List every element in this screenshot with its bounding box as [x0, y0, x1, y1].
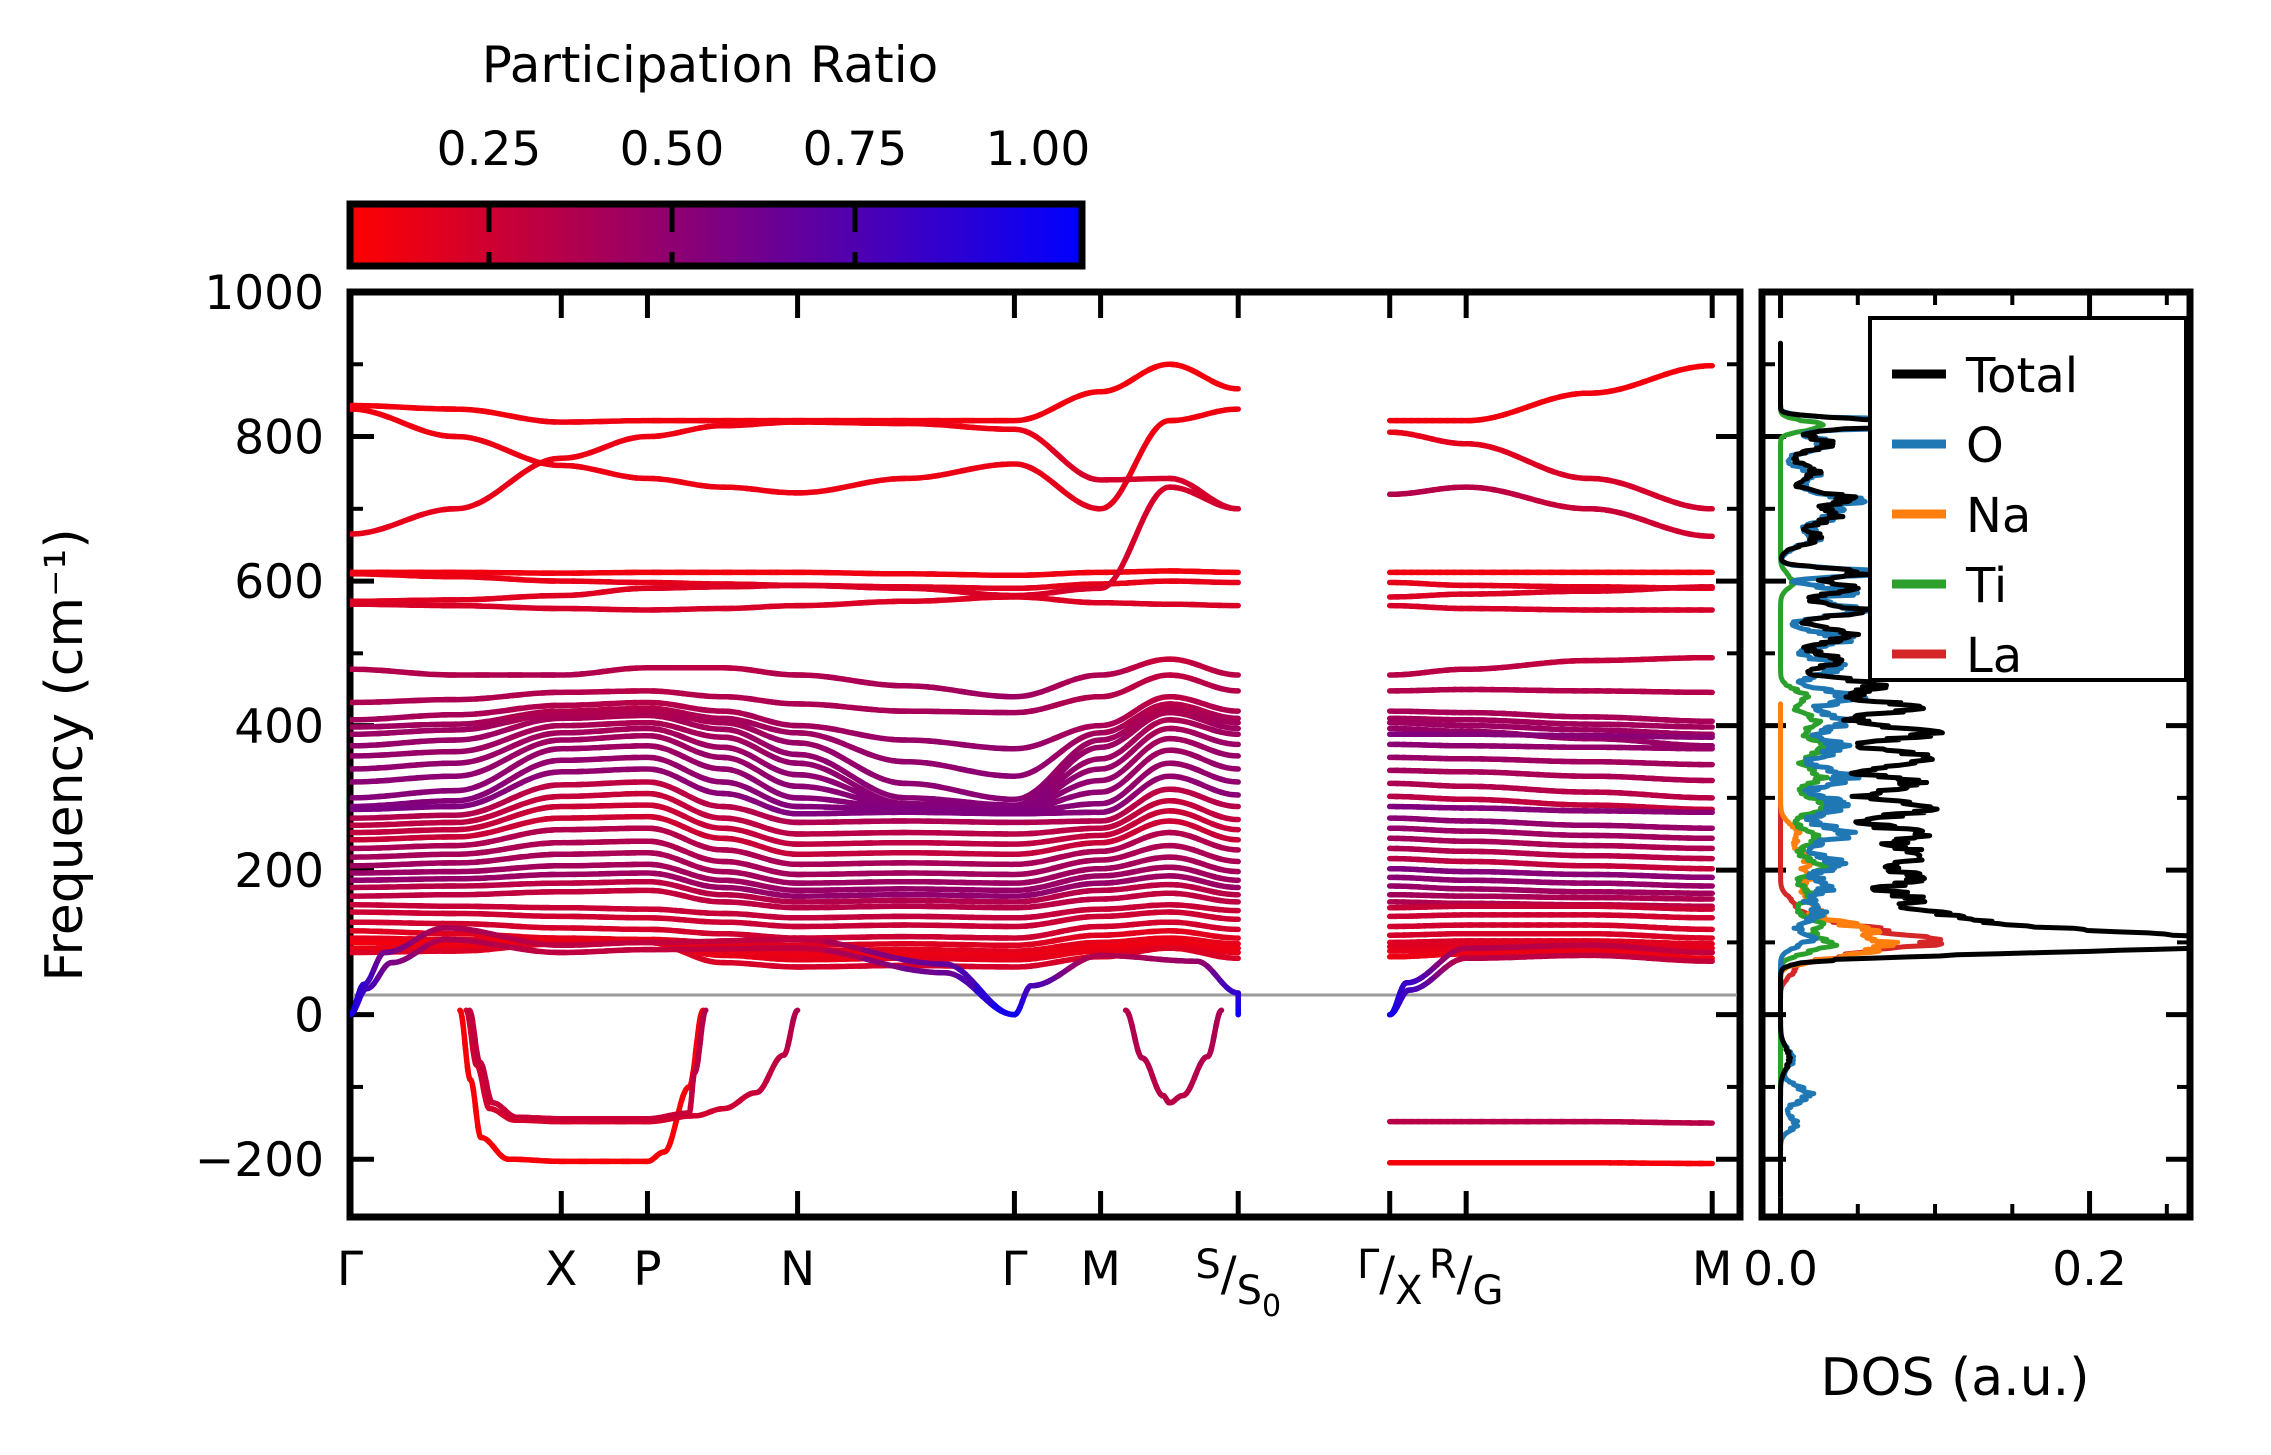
band-x-ticklabel: R/G [1429, 1242, 1504, 1314]
phonon-band-segment [1212, 409, 1238, 413]
phonon-band-segment [1212, 740, 1238, 745]
colorbar-title: Participation Ratio [482, 36, 938, 94]
band-y-ticklabel: 600 [234, 555, 324, 610]
band-y-ticklabels: 10008006004002000−200 [195, 266, 324, 1188]
svg-text:P: P [633, 1242, 661, 1297]
phonon-figure-svg: Participation Ratio 0.25 0.50 0.75 1.00 … [0, 0, 2271, 1455]
svg-text:R/G: R/G [1429, 1242, 1504, 1314]
dos-x-axis-title: DOS (a.u.) [1821, 1348, 2090, 1408]
phonon-band-segment [1212, 927, 1238, 929]
phonon-band-segment [1212, 876, 1238, 880]
phonon-band-segment [1212, 824, 1238, 830]
band-y-ticklabel: −200 [195, 1133, 324, 1188]
phonon-band-segment [1212, 942, 1238, 944]
svg-text:S/S0: S/S0 [1195, 1242, 1281, 1324]
band-x-ticklabel: Γ/X [1357, 1242, 1423, 1314]
band-axes-frame [350, 292, 1740, 1217]
phonon-band-segment [1218, 1010, 1221, 1016]
dos-x-ticklabels: 0.00.2 [1743, 1242, 2127, 1297]
phonon-band-segment [1212, 892, 1238, 895]
phonon-band-segment [1212, 834, 1238, 840]
phonon-band-segment [1212, 917, 1238, 919]
svg-text:N: N [780, 1242, 815, 1297]
band-panel: 10008006004002000−200 ΓXPNΓMS/S0Γ/XR/GM … [35, 266, 1740, 1324]
svg-text:M: M [1692, 1242, 1733, 1297]
phonon-band-segment [1212, 845, 1238, 850]
band-y-ticklabel: 400 [234, 700, 324, 755]
phonon-band-segment [1212, 867, 1238, 872]
legend-label-ti: Ti [1965, 558, 2007, 614]
dos-x-ticklabel: 0.0 [1743, 1242, 1818, 1297]
dos-panel: 0.00.2 DOS (a.u.) TotalONaTiLa [1743, 292, 2257, 1408]
band-x-ticklabel: X [545, 1242, 577, 1297]
phonon-band-segment [1212, 909, 1238, 911]
band-x-ticklabel: M [1692, 1242, 1733, 1297]
dos-legend: TotalONaTiLa [1870, 318, 2186, 684]
phonon-band-segment [1698, 508, 1712, 509]
band-x-ticklabels: ΓXPNΓMS/S0Γ/XR/GM [337, 1242, 1733, 1324]
phonon-band-segment [1212, 950, 1238, 952]
legend-label-o: O [1966, 418, 2004, 474]
phonon-band-segment [1212, 814, 1238, 820]
phonon-band-segment [1212, 946, 1238, 948]
svg-text:M: M [1080, 1242, 1121, 1297]
colorbar-tick-3: 1.00 [986, 122, 1091, 177]
phonon-band-segment [1212, 763, 1238, 769]
band-y-ticklabel: 800 [234, 411, 324, 466]
band-x-ticks [350, 292, 1712, 1217]
svg-text:Γ/X: Γ/X [1357, 1242, 1423, 1314]
svg-text:Γ: Γ [337, 1242, 363, 1297]
phonon-band-segment [994, 1006, 1015, 1015]
colorbar-tick-1: 0.50 [620, 122, 725, 177]
figure-canvas: Participation Ratio 0.25 0.50 0.75 1.00 … [0, 0, 2271, 1455]
phonon-band-segment [1212, 572, 1238, 573]
band-x-ticklabel: P [633, 1242, 661, 1297]
band-x-ticklabel: Γ [1001, 1242, 1027, 1297]
colorbar-tick-2: 0.75 [803, 122, 908, 177]
band-y-axis-title: Frequency (cm⁻¹) [35, 528, 95, 981]
phonon-band-segment [1212, 936, 1238, 938]
phonon-band-segment [1212, 381, 1238, 389]
colorbar-tick-0: 0.25 [437, 122, 542, 177]
phonon-band-segment [1212, 751, 1238, 756]
svg-text:X: X [545, 1242, 577, 1297]
svg-text:Γ: Γ [1001, 1242, 1027, 1297]
colorbar-ticklabels: 0.25 0.50 0.75 1.00 [437, 122, 1091, 177]
phonon-band-segment [1698, 535, 1712, 536]
band-y-ticklabel: 0 [294, 989, 324, 1044]
phonon-band-segment [1212, 502, 1238, 509]
colorbar-gradient [350, 204, 1082, 266]
legend-label-na: Na [1966, 488, 2031, 544]
band-x-ticklabel: N [780, 1242, 815, 1297]
phonon-band-segment [1212, 776, 1238, 782]
phonon-band-segment [1698, 366, 1712, 367]
phonon-band-segment [1212, 899, 1238, 902]
phonon-band-segment [1212, 955, 1238, 958]
band-y-ticklabel: 1000 [204, 266, 324, 321]
band-x-ticklabel: Γ [337, 1242, 363, 1297]
phonon-band-segment [1212, 789, 1238, 795]
phonon-band-segment [792, 1010, 797, 1024]
dos-x-ticklabel: 0.2 [2052, 1242, 2127, 1297]
colorbar: Participation Ratio 0.25 0.50 0.75 1.00 [350, 36, 1090, 266]
legend-label-la: La [1966, 628, 2022, 684]
band-x-ticklabel: M [1080, 1242, 1121, 1297]
phonon-band-segment [1212, 884, 1238, 888]
phonon-band-segment [703, 1010, 706, 1023]
legend-label-total: Total [1965, 348, 2078, 404]
phonon-band-segment [1212, 801, 1238, 806]
band-x-ticklabel: S/S0 [1195, 1242, 1281, 1324]
band-y-ticklabel: 200 [234, 844, 324, 899]
phonon-band-segment [1148, 487, 1178, 510]
band-curves [350, 364, 1712, 1163]
phonon-band-segment [1212, 707, 1238, 711]
phonon-band-segment [1212, 670, 1238, 675]
phonon-band-segment [1212, 857, 1238, 862]
phonon-band-segment [1212, 686, 1238, 691]
